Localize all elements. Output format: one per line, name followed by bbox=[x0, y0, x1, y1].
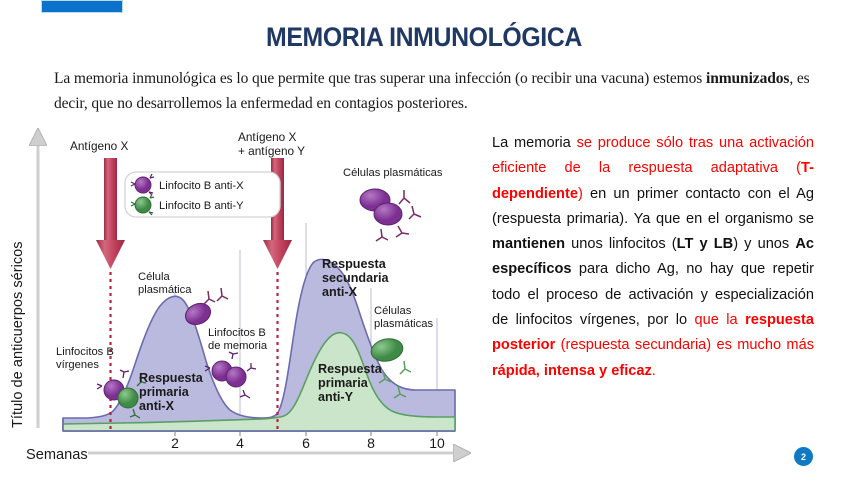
svg-text:Respuesta: Respuesta bbox=[139, 371, 204, 385]
page-number-badge: 2 bbox=[794, 447, 813, 466]
svg-text:primaria: primaria bbox=[318, 376, 369, 390]
antigen-xy-label-line2: + antígeno Y bbox=[238, 144, 305, 158]
x-tick-8: 8 bbox=[367, 435, 375, 451]
svg-text:Respuesta: Respuesta bbox=[318, 362, 383, 376]
svg-text:primaria: primaria bbox=[139, 385, 190, 399]
right-explanation-paragraph: La memoria se produce sólo tras una acti… bbox=[492, 131, 814, 384]
memory-b-label-1: Linfocitos B bbox=[208, 327, 266, 339]
chart-legend: Linfocito B anti-X Linfocito B anti-Y bbox=[125, 172, 280, 217]
plasma-cells-top-label: Células plasmáticas bbox=[343, 167, 443, 179]
intro-bold-inmunizados: inmunizados bbox=[706, 70, 789, 87]
intro-line-2a: estemos bbox=[653, 70, 706, 87]
rt-seg-8: LT y LB bbox=[677, 236, 734, 252]
plasma-cells-top-icon bbox=[360, 189, 421, 241]
svg-text:anti-Y: anti-Y bbox=[318, 390, 354, 404]
rt-seg-7: unos linfocitos ( bbox=[565, 236, 677, 252]
naive-b-label-2: vírgenes bbox=[56, 359, 99, 371]
accent-bar bbox=[41, 0, 123, 13]
x-tick-labels: 2 4 6 8 10 bbox=[171, 435, 445, 451]
x-tick-2: 2 bbox=[171, 435, 179, 451]
rt-seg-14: (respuesta secundaria) es mucho más bbox=[555, 337, 814, 353]
antigen-x-label: Antígeno X bbox=[70, 139, 129, 153]
rt-seg-6: mantienen bbox=[492, 236, 565, 252]
memory-b-label-2: de memoria bbox=[208, 340, 268, 352]
rt-seg-15: rápida, intensa y eficaz bbox=[492, 363, 652, 379]
svg-text:secundaria: secundaria bbox=[322, 271, 389, 285]
plasma-cell-left-label-2: plasmática bbox=[138, 284, 192, 296]
legend-label-anti-y: Linfocito B anti-Y bbox=[159, 200, 244, 212]
svg-text:anti-X: anti-X bbox=[139, 399, 175, 413]
rt-seg-16: . bbox=[652, 363, 656, 379]
rt-seg-5: Ya que en el organismo se bbox=[628, 211, 814, 227]
naive-b-label-1: Linfocitos B bbox=[56, 346, 114, 358]
page-title: MEMORIA INMUNOLÓGICA bbox=[34, 22, 814, 53]
intro-paragraph: La memoria inmunológica es lo que permit… bbox=[54, 66, 814, 116]
x-tick-4: 4 bbox=[236, 435, 244, 451]
svg-text:anti-X: anti-X bbox=[322, 285, 358, 299]
x-tick-6: 6 bbox=[302, 435, 310, 451]
legend-label-anti-x: Linfocito B anti-X bbox=[159, 180, 244, 192]
plasma-cells-right-label-1: Células bbox=[374, 305, 412, 317]
slide-canvas: MEMORIA INMUNOLÓGICA La memoria inmunoló… bbox=[0, 0, 848, 477]
secondary-x-label: Respuesta secundaria anti-X bbox=[322, 257, 389, 299]
y-axis-title: Título de anticuerpos séricos bbox=[10, 241, 26, 428]
svg-text:Respuesta: Respuesta bbox=[322, 257, 387, 271]
rt-seg-9: ) y unos bbox=[733, 236, 795, 252]
intro-line-1: La memoria inmunológica es lo que permit… bbox=[54, 70, 649, 87]
x-tick-10: 10 bbox=[429, 435, 445, 451]
plasma-cells-right-label-2: plasmáticas bbox=[374, 318, 433, 330]
rt-seg-0: La memoria bbox=[492, 135, 577, 151]
rt-seg-12: que la bbox=[695, 312, 746, 328]
antigen-xy-label-line1: Antígeno X bbox=[238, 130, 297, 144]
immune-memory-chart: Título de anticuerpos séricos Semanas bbox=[0, 128, 480, 477]
plasma-cell-left-label-1: Célula bbox=[138, 271, 170, 283]
x-axis-title: Semanas bbox=[26, 447, 88, 463]
